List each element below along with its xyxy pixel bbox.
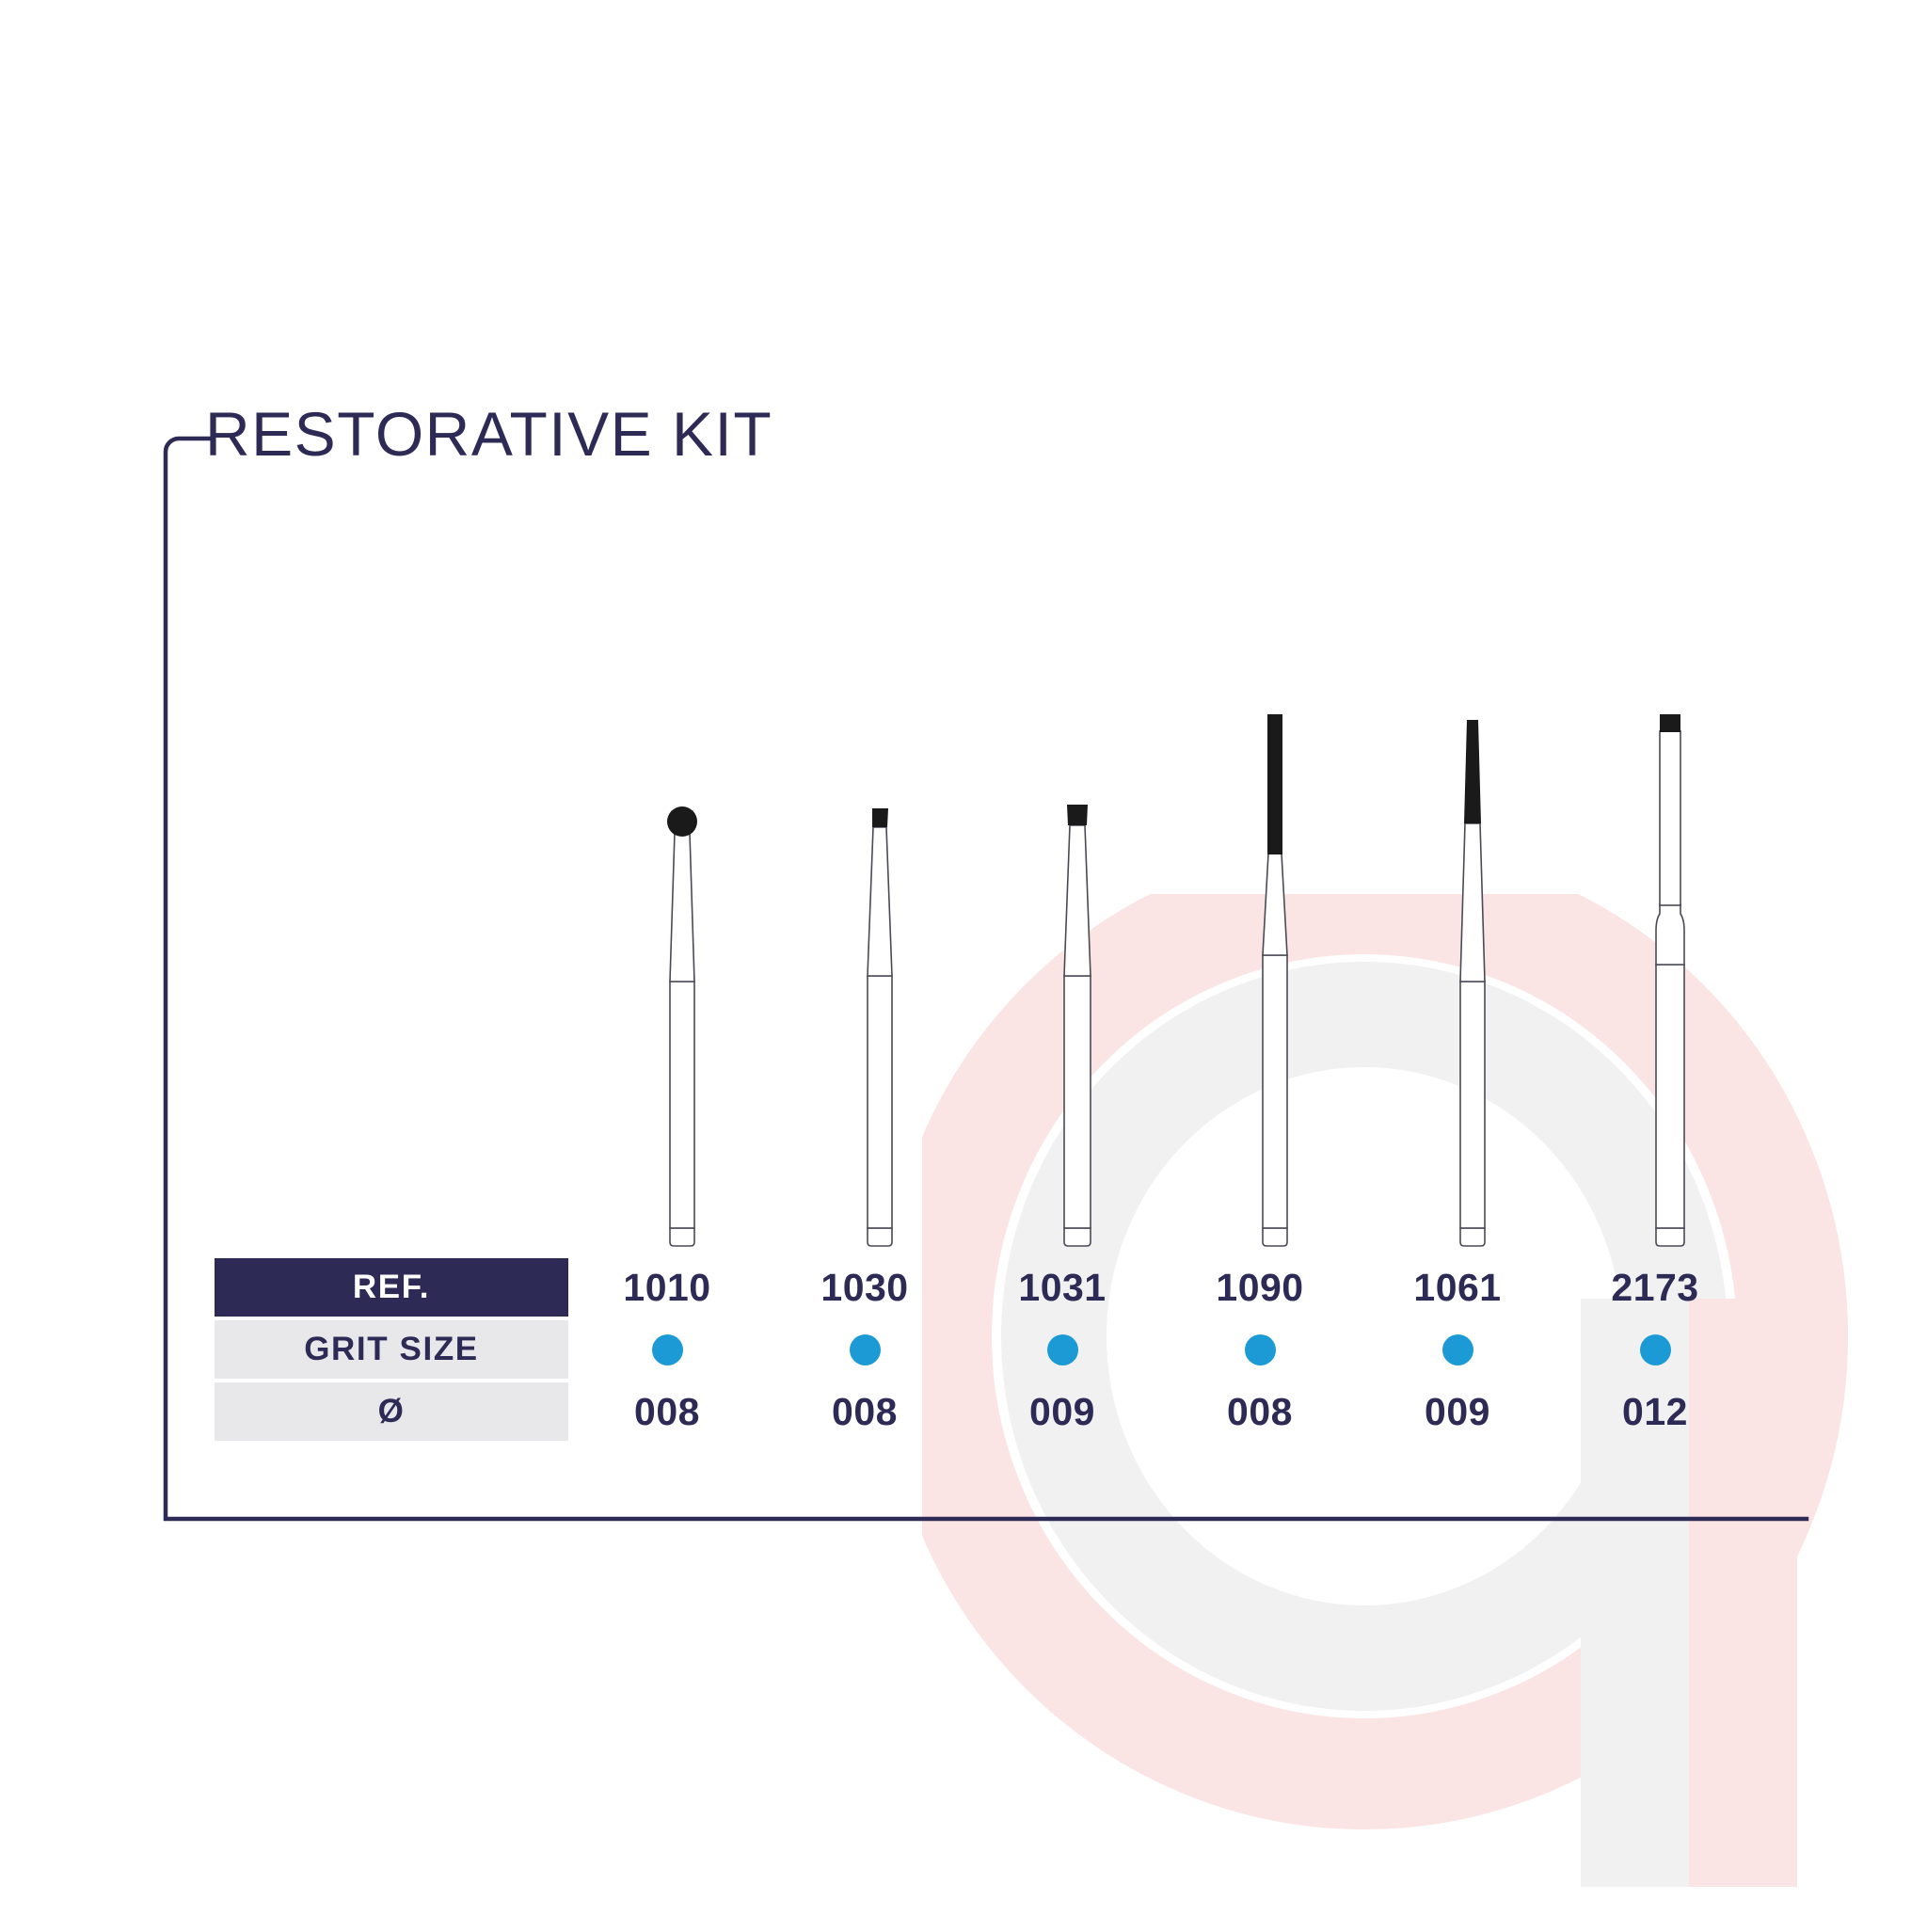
diameter-cell-3: 008	[1161, 1382, 1359, 1441]
bur-illustration-2173	[1571, 682, 1769, 1247]
ref-cell-1: 1030	[766, 1258, 963, 1317]
bur-head-1031	[1067, 805, 1088, 825]
bur-head-1010	[667, 806, 697, 837]
table-row-diameter: Ø 008 008 009 008 009 012	[215, 1382, 1754, 1441]
ref-cell-5: 2173	[1556, 1258, 1754, 1317]
ref-cell-4: 1061	[1359, 1258, 1556, 1317]
grit-cell-4	[1359, 1320, 1556, 1379]
bur-illustration-1030	[781, 682, 979, 1247]
grit-dot-icon	[850, 1334, 881, 1365]
bur-head-1061	[1464, 720, 1481, 823]
grit-dot-icon	[652, 1334, 683, 1365]
grit-values	[568, 1320, 1754, 1379]
grit-cell-0	[568, 1320, 766, 1379]
bur-illustration-1010	[583, 682, 781, 1247]
ref-values: 1010 1030 1031 1090 1061 2173	[568, 1258, 1754, 1317]
spec-table: REF. 1010 1030 1031 1090 1061 2173 GRIT …	[215, 1258, 1754, 1445]
bur-head-1090	[1267, 714, 1282, 854]
grit-dot-icon	[1245, 1334, 1276, 1365]
bur-illustration-1031	[979, 682, 1176, 1247]
ref-cell-3: 1090	[1161, 1258, 1359, 1317]
bur-head-2173	[1660, 714, 1680, 732]
row-label-ref: REF.	[215, 1258, 568, 1317]
diameter-cell-4: 009	[1359, 1382, 1556, 1441]
row-label-diameter: Ø	[215, 1382, 568, 1441]
grit-cell-1	[766, 1320, 963, 1379]
page-title: RESTORATIVE KIT	[205, 398, 772, 470]
diameter-cell-0: 008	[568, 1382, 766, 1441]
bur-head-1030	[872, 808, 888, 827]
diameter-cell-5: 012	[1556, 1382, 1754, 1441]
bur-illustration-1061	[1374, 682, 1571, 1247]
ref-cell-0: 1010	[568, 1258, 766, 1317]
diameter-values: 008 008 009 008 009 012	[568, 1382, 1754, 1441]
table-row-grit-size: GRIT SIZE	[215, 1320, 1754, 1379]
grit-dot-icon	[1640, 1334, 1671, 1365]
diameter-cell-2: 009	[963, 1382, 1161, 1441]
grit-dot-icon	[1047, 1334, 1078, 1365]
diameter-cell-1: 008	[766, 1382, 963, 1441]
bur-illustration-row	[583, 682, 1769, 1247]
grit-dot-icon	[1442, 1334, 1473, 1365]
grit-cell-3	[1161, 1320, 1359, 1379]
grit-cell-5	[1556, 1320, 1754, 1379]
row-label-grit-size: GRIT SIZE	[215, 1320, 568, 1379]
table-row-ref: REF. 1010 1030 1031 1090 1061 2173	[215, 1258, 1754, 1317]
bur-illustration-1090	[1176, 682, 1374, 1247]
ref-cell-2: 1031	[963, 1258, 1161, 1317]
grit-cell-2	[963, 1320, 1161, 1379]
